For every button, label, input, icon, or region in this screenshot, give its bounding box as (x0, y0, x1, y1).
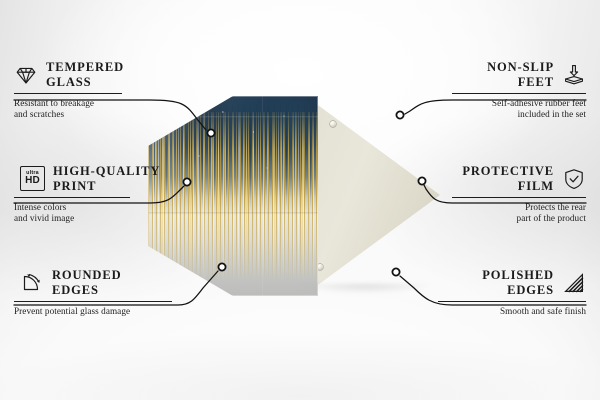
divider-rule (452, 93, 586, 94)
feature-description: Smooth and safe finish (438, 306, 586, 317)
feature-description: Self-adhesive rubber feet included in th… (452, 98, 586, 120)
divider-rule (14, 301, 172, 302)
divider-rule (14, 197, 130, 198)
feature-title: HIGH-QUALITY PRINT (53, 164, 160, 193)
feature-high-quality-print: ultra HD HIGH-QUALITY PRINT Intense colo… (20, 164, 170, 224)
callout-dot-non-slip-feet (396, 111, 403, 118)
callout-dot-high-quality-print (183, 178, 190, 185)
feature-title: PROTECTIVE FILM (462, 164, 554, 193)
press-down-pad-icon (562, 63, 586, 87)
feature-non-slip-feet: NON-SLIP FEET Self-adhesive rubber feet … (440, 60, 586, 120)
infographic-canvas: TEMPERED GLASS Resistant to breakage and… (0, 0, 600, 400)
callout-dot-protective-film (418, 177, 425, 184)
shield-check-icon (562, 167, 586, 191)
feature-title: POLISHED EDGES (482, 268, 554, 297)
rounded-corner-icon (20, 271, 44, 295)
feature-description: Resistant to breakage and scratches (14, 98, 154, 120)
feature-tempered-glass: TEMPERED GLASS Resistant to breakage and… (14, 60, 154, 120)
feature-title: NON-SLIP FEET (487, 60, 554, 89)
callout-dot-tempered-glass (207, 129, 214, 136)
feature-title: ROUNDED EDGES (52, 268, 122, 297)
feature-polished-edges: POLISHED EDGES Smooth and safe finish (426, 268, 586, 317)
feature-description: Prevent potential glass damage (14, 306, 190, 317)
hatched-triangle-icon (562, 271, 586, 295)
divider-rule (452, 197, 586, 198)
feature-description: Protects the rear part of the product (452, 202, 586, 224)
divider-rule (438, 301, 586, 302)
feature-protective-film: PROTECTIVE FILM Protects the rear part o… (440, 164, 586, 224)
diamond-icon (14, 63, 38, 87)
feature-title: TEMPERED GLASS (46, 60, 124, 89)
callout-dot-polished-edges (392, 268, 399, 275)
feature-description: Intense colors and vivid image (14, 202, 170, 224)
divider-rule (14, 93, 122, 94)
ultra-hd-badge-icon: ultra HD (20, 166, 45, 191)
callout-dot-rounded-edges (218, 263, 225, 270)
feature-rounded-edges: ROUNDED EDGES Prevent potential glass da… (20, 268, 190, 317)
